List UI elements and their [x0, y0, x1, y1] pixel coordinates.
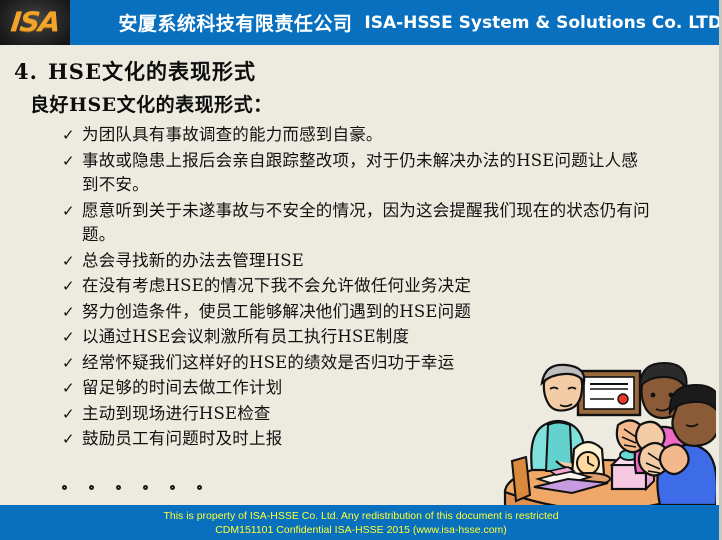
slide-body: 4.HSE文化的表现形式 良好HSE文化的表现形式： ✓ 为团队具有事故调查的能…: [0, 45, 719, 505]
logo-text: ISA: [9, 7, 60, 38]
check-icon: ✓: [62, 199, 82, 224]
list-item: ✓ 努力创造条件，使员工能够解决他们遇到的HSE问题: [62, 300, 667, 325]
check-icon: ✓: [62, 376, 82, 401]
check-icon: ✓: [62, 249, 82, 274]
list-item: ✓ 为团队具有事故调查的能力而感到自豪。: [62, 123, 667, 148]
meeting-award-clipart: [490, 353, 716, 505]
circle-bullet-icon: [116, 485, 121, 490]
list-item: ✓ 在没有考虑HSE的情况下我不会允许做任何业务决定: [62, 274, 667, 299]
list-item-label: 愿意听到关于未遂事故与不安全的情况，因为这会提醒我们现在的状态仍有问题。: [82, 199, 650, 248]
list-item: ✓ 愿意听到关于未遂事故与不安全的情况，因为这会提醒我们现在的状态仍有问题。: [62, 199, 667, 248]
check-icon: ✓: [62, 325, 82, 350]
check-icon: ✓: [62, 427, 82, 452]
company-name-en: ISA-HSSE System & Solutions Co. LTD: [364, 13, 722, 33]
list-item-label: 总会寻找新的办法去管理HSE: [82, 249, 667, 274]
circle-bullet-icon: [89, 485, 94, 490]
circle-bullet-icon: [143, 485, 148, 490]
list-item-label: 为团队具有事故调查的能力而感到自豪。: [82, 123, 650, 148]
footer-document-line: CDM151101 Confidential ISA-HSSE 2015 (ww…: [215, 523, 507, 537]
check-icon: ✓: [62, 300, 82, 325]
circle-bullet-icon: [170, 485, 175, 490]
company-name-cn: 安厦系统科技有限责任公司: [118, 9, 352, 36]
presentation-slide: ISA 安厦系统科技有限责任公司 ISA-HSSE System & Solut…: [0, 0, 722, 540]
slide-header: ISA 安厦系统科技有限责任公司 ISA-HSSE System & Solut…: [0, 0, 722, 45]
check-icon: ✓: [62, 274, 82, 299]
list-item-label: 努力创造条件，使员工能够解决他们遇到的HSE问题: [82, 300, 667, 325]
slide-footer: This is property of ISA-HSSE Co. Ltd. An…: [0, 505, 722, 540]
trailing-dot-bullets: [62, 485, 202, 490]
footer-copyright-line: This is property of ISA-HSSE Co. Ltd. An…: [163, 509, 558, 523]
check-icon: ✓: [62, 149, 82, 174]
slide-number: 4.: [14, 59, 38, 84]
isa-logo-icon: ISA: [0, 0, 70, 45]
check-icon: ✓: [62, 402, 82, 427]
list-item: ✓ 事故或隐患上报后会亲自跟踪整改项，对于仍未解决办法的HSE问题让人感到不安。: [62, 149, 667, 198]
slide-title-text: HSE文化的表现形式: [48, 59, 256, 84]
list-item: ✓ 总会寻找新的办法去管理HSE: [62, 249, 667, 274]
circle-bullet-icon: [62, 485, 67, 490]
list-item-label: 在没有考虑HSE的情况下我不会允许做任何业务决定: [82, 274, 667, 299]
check-icon: ✓: [62, 123, 82, 148]
check-icon: ✓: [62, 351, 82, 376]
list-item-label: 事故或隐患上报后会亲自跟踪整改项，对于仍未解决办法的HSE问题让人感到不安。: [82, 149, 650, 198]
list-item-label: 以通过HSE会议刺激所有员工执行HSE制度: [82, 325, 667, 350]
slide-subtitle: 良好HSE文化的表现形式：: [30, 90, 273, 117]
header-title-bar: 安厦系统科技有限责任公司 ISA-HSSE System & Solutions…: [70, 0, 722, 45]
page-title: 4.HSE文化的表现形式: [14, 56, 256, 86]
circle-bullet-icon: [197, 485, 202, 490]
list-item: ✓ 以通过HSE会议刺激所有员工执行HSE制度: [62, 325, 667, 350]
